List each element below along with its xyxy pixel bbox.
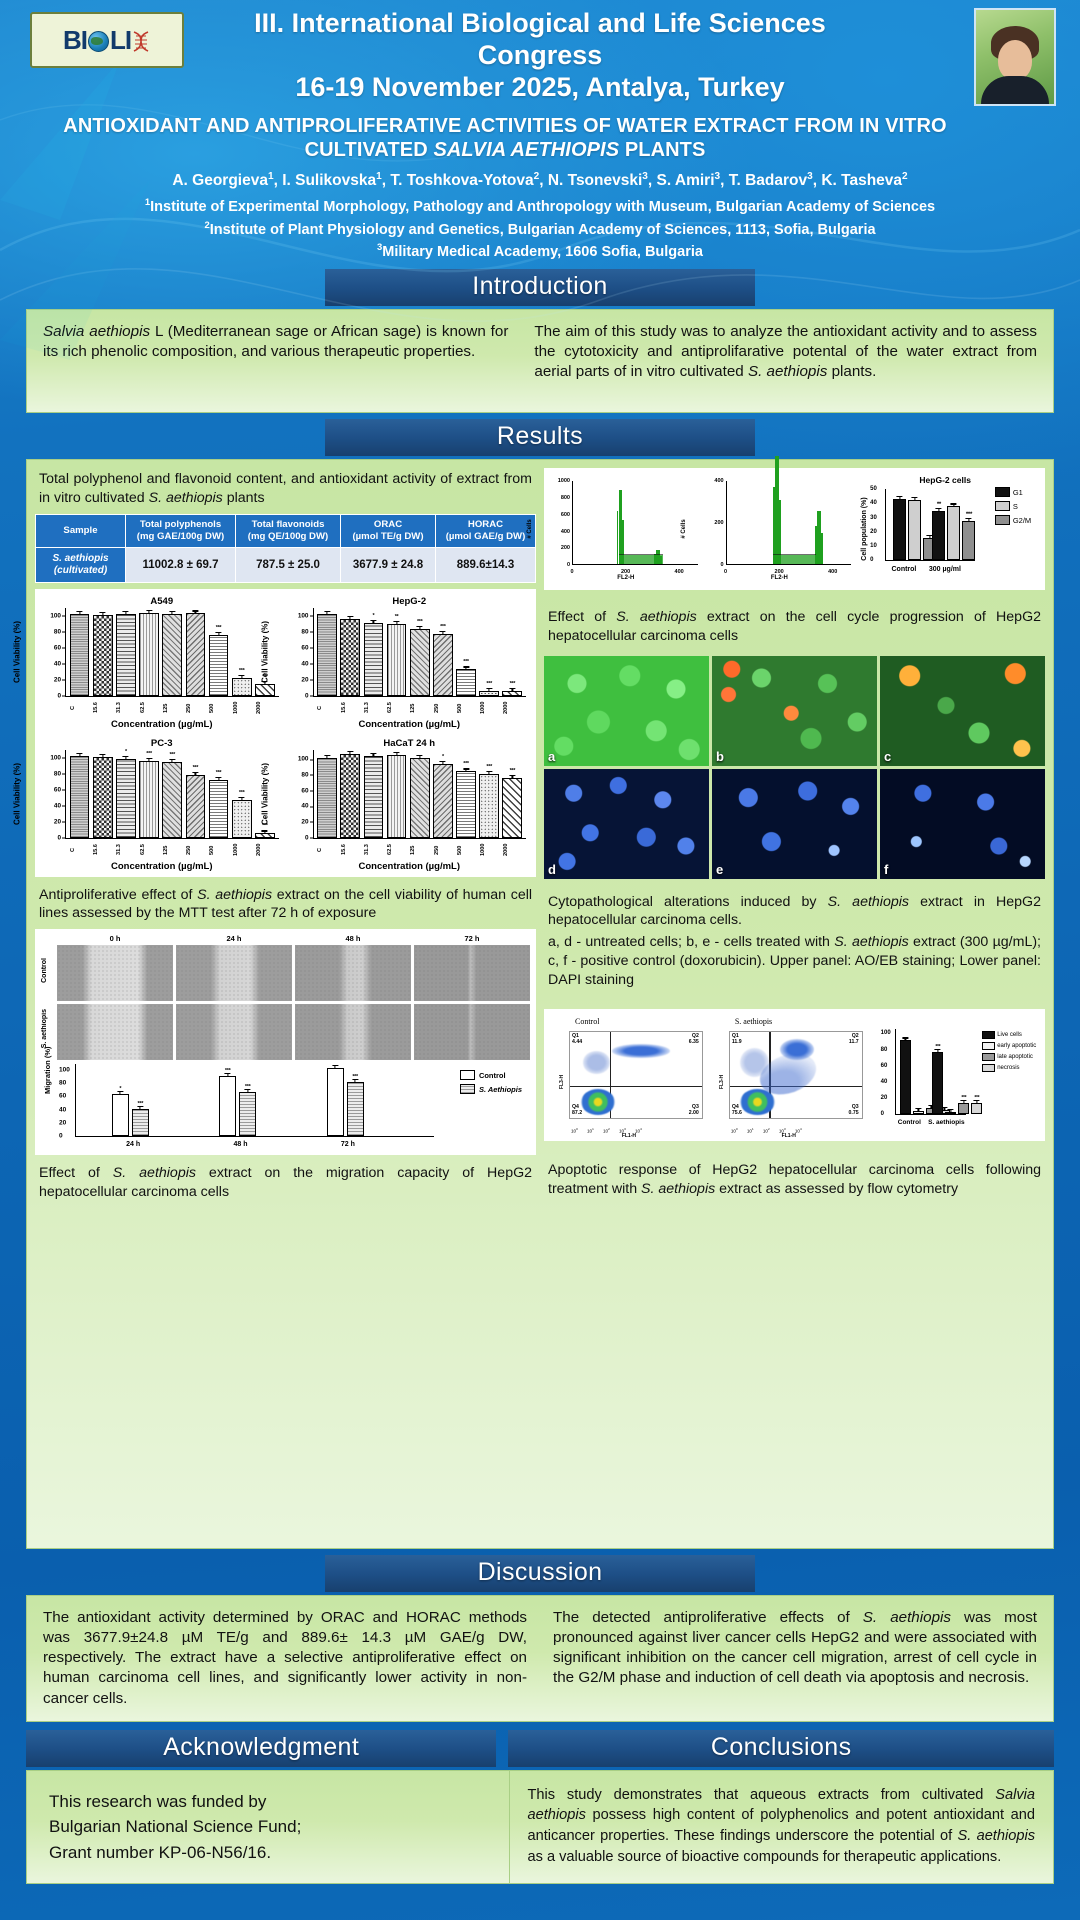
bar [70, 614, 90, 696]
cellcycle-caption: Effect of S. aethiopis extract on the ce… [544, 596, 1045, 649]
bar [93, 757, 113, 838]
bar [139, 613, 159, 696]
x-tick: 1000 [233, 698, 251, 718]
scratch-time-label: 72 h [414, 934, 530, 943]
quadrant-label-q1: Q111.9 [732, 1034, 742, 1046]
td-total-flavonoids: 787.5 ± 25.0 [236, 547, 341, 582]
y-tick: 0 [305, 834, 309, 841]
x-tick-labels: C15.631.362.512525050010002000 [65, 698, 279, 718]
legend-swatch [995, 515, 1010, 525]
introduction-left-text: Salvia aethiopis L (Mediterranean sage o… [43, 322, 508, 400]
y-tick: 20 [301, 818, 308, 825]
error-bar [218, 777, 219, 781]
hist-y-tick: 200 [714, 520, 723, 526]
apop-caption-species: S. aethiopis [641, 1181, 715, 1197]
x-tick: 48 h [234, 1141, 248, 1148]
scratch-image [295, 1004, 411, 1060]
quadrant-label-q1: Q14.44 [572, 1034, 582, 1046]
significance-marker: *** [966, 512, 972, 518]
poster-header: BILI III. International Biological and L… [0, 0, 1080, 263]
x-axis-label: Concentration (µg/mL) [39, 719, 285, 733]
photo-face [998, 40, 1032, 80]
error-bar [968, 518, 969, 522]
affiliation-3: 3Military Medical Academy, 1606 Sofia, B… [18, 240, 1062, 263]
bar: *** [219, 1076, 236, 1136]
y-tick: 40 [54, 802, 61, 809]
ack-line-1: This research was funded by [49, 1789, 487, 1815]
hist-y-tick: 0 [721, 562, 724, 568]
bar [93, 615, 113, 696]
intro-right-b: plants. [827, 363, 876, 380]
title-line-2: CULTIVATED SALVIA AETHIOPIS PLANTS [34, 138, 976, 162]
significance-marker: *** [146, 751, 152, 757]
hist-x-label: FL2-H [617, 575, 634, 581]
y-axis: Cell Viability (%)020406080100 [287, 608, 311, 696]
x-tick: Control [898, 1119, 921, 1126]
bar [116, 614, 136, 696]
bar: * [112, 1094, 129, 1137]
bar-group: *** [327, 1064, 364, 1136]
cyto-caption-species-2: S. aethiopis [834, 934, 909, 950]
th-sample: Sample [36, 514, 126, 547]
section-banner-results: Results [325, 419, 755, 456]
error-bar [148, 758, 149, 762]
y-tick: 30 [870, 515, 877, 521]
section-banner-introduction: Introduction [325, 269, 755, 306]
y-tick: 100 [50, 612, 61, 619]
mtt-chart: HaCaT 24 hCell Viability (%)020406080100… [287, 735, 533, 875]
introduction-banner-wrap: Introduction [0, 269, 1080, 306]
flow-histogram: # Cells02004000200400FL2-H [704, 475, 856, 583]
bar: *** [502, 691, 522, 696]
x-tick: 101 [747, 1127, 754, 1134]
hist-x-tick: 0 [570, 569, 573, 575]
bar: * [433, 764, 453, 838]
legend-label: Live cells [997, 1032, 1022, 1038]
hist-x-tick: 400 [828, 569, 837, 575]
error-bar [396, 621, 397, 625]
scratch-image [414, 945, 530, 1001]
y-tick: 100 [298, 612, 309, 619]
error-bar [419, 626, 420, 630]
y-axis-label: Cell Viability (%) [260, 621, 269, 683]
td-total-polyphenols: 11002.8 ± 69.7 [126, 547, 236, 582]
micrograph-label: e [716, 862, 723, 877]
cell-cycle-bar-chart: HepG-2 cellsCell population (%)010203040… [857, 475, 1033, 583]
dna-icon [131, 29, 151, 51]
bar-group [893, 489, 936, 560]
micrograph-f: f [880, 769, 1045, 879]
error-bar [335, 1065, 336, 1069]
legend: Live cellsearly apoptoticlate apoptoticn… [982, 1031, 1037, 1075]
bar: *** [479, 774, 499, 838]
concl-species-2: S. aethiopis [957, 1828, 1035, 1844]
y-tick: 60 [881, 1063, 888, 1069]
error-bar [489, 771, 490, 775]
hist-peak-edge [773, 487, 775, 565]
x-tick: 31.3 [116, 698, 134, 718]
error-bar [102, 612, 103, 616]
y-tick: 10 [870, 543, 877, 549]
micrograph-label: c [884, 749, 891, 764]
legend-item: Control [460, 1070, 522, 1080]
bar-group: ********* [932, 1029, 982, 1114]
y-axis-label: FL3-H [559, 1075, 565, 1089]
acknowledgment-text: This research was funded by Bulgarian Na… [49, 1789, 487, 1866]
scratch-row-label-treated: S. aethiopis [41, 1009, 54, 1048]
cyto-caption-c: a, d - untreated cells; b, e - cells tre… [548, 934, 834, 950]
x-tick: 500 [209, 840, 227, 860]
bar [70, 756, 90, 838]
y-tick: 0 [870, 557, 873, 563]
dot-cluster-upper [612, 1044, 670, 1058]
x-tick: Control [891, 566, 916, 573]
y-tick: 50 [870, 486, 877, 492]
hist-y-tick: 200 [561, 545, 570, 551]
migration-caption-species: S. aethiopis [113, 1165, 196, 1181]
th-horac: HORAC(µmol GAE/g DW) [436, 514, 536, 547]
significance-marker: *** [935, 1044, 940, 1050]
error-bar [465, 768, 466, 772]
y-axis-label: Cell Viability (%) [13, 763, 22, 825]
scratch-time-label: 48 h [295, 934, 411, 943]
y-tick: 40 [881, 1079, 888, 1085]
cell-cycle-card: # Cells020040060080010000200400FL2-H# Ce… [544, 468, 1045, 590]
quadrant-divider-horizontal [570, 1086, 702, 1087]
hist-y-tick: 0 [567, 562, 570, 568]
ack-line-3: Grant number KP-06-N56/16. [49, 1840, 487, 1866]
error-bar [125, 611, 126, 615]
error-bar [373, 753, 374, 757]
bar: *** [971, 1103, 982, 1114]
legend: G1SG2/M [995, 487, 1031, 529]
scratch-image [57, 1004, 173, 1060]
x-tick: 62.5 [387, 840, 405, 860]
legend-item: necrosis [982, 1064, 1037, 1072]
bar [947, 506, 960, 560]
table-caption: Total polyphenol and flavonoid content, … [35, 468, 536, 507]
y-tick: 80 [54, 770, 61, 777]
error-bar [419, 755, 420, 759]
mtt-caption-species: S. aethiopis [197, 887, 272, 903]
conclusions-panel: This study demonstrates that aqueous ext… [509, 1770, 1055, 1885]
plot-area: ********** [313, 750, 527, 839]
bar: ** [932, 511, 945, 561]
apoptosis-card: ControlFL3-HQ14.44Q26.35Q487.2Q32.001001… [544, 1009, 1045, 1141]
scratch-image [57, 945, 173, 1001]
flow-dotplot: S. aethiopisFL3-HQ111.9Q211.7Q475.6Q30.7… [711, 1017, 867, 1135]
affiliations: 1Institute of Experimental Morphology, P… [0, 195, 1080, 264]
td-horac: 889.6±14.3 [436, 547, 536, 582]
affiliation-1: 1Institute of Experimental Morphology, P… [18, 195, 1062, 218]
error-bar [218, 632, 219, 636]
y-tick: 20 [301, 676, 308, 683]
bar [893, 499, 906, 561]
significance-marker: *** [486, 681, 492, 687]
bar: *** [162, 762, 182, 838]
ack-line-2: Bulgarian National Science Fund; [49, 1814, 487, 1840]
significance-marker: *** [417, 619, 423, 625]
chart-title: HepG-2 cells [857, 475, 1033, 485]
x-tick: 250 [186, 698, 204, 718]
bar [908, 500, 921, 560]
cc-caption-species: S. aethiopis [616, 609, 696, 625]
significance-marker: *** [245, 1084, 251, 1090]
bar: *** [433, 634, 453, 696]
scratch-image [414, 1004, 530, 1060]
mtt-chart-card: A549Cell Viability (%)020406080100******… [35, 589, 536, 877]
cyto-caption-species-1: S. aethiopis [828, 894, 909, 910]
scratch-assay-block: Control S. aethiopis 0 h24 h48 h72 h [41, 934, 530, 1060]
error-bar [396, 752, 397, 756]
x-tick: 72 h [341, 1141, 355, 1148]
y-tick: 0 [57, 834, 61, 841]
y-tick: 0 [59, 1133, 63, 1140]
scratch-time-labels: 0 h24 h48 h72 h [57, 934, 530, 943]
dot-cluster-main [581, 1089, 615, 1115]
td-sample: S. aethiopis(cultivated) [36, 547, 126, 582]
micrograph-label: b [716, 749, 724, 764]
x-tick: 62.5 [387, 698, 405, 718]
y-tick: 0 [881, 1111, 884, 1117]
y-tick: 80 [54, 628, 61, 635]
bar: *** [232, 678, 252, 696]
x-tick: C [317, 698, 335, 718]
legend-swatch [460, 1084, 475, 1094]
discussion-right-text: The detected antiproliferative effects o… [553, 1608, 1037, 1708]
bar: *** [479, 691, 499, 696]
significance-marker: *** [169, 752, 175, 758]
scratch-image [176, 1004, 292, 1060]
x-tick: 24 h [126, 1141, 140, 1148]
mtt-chart: HepG-2Cell Viability (%)020406080100****… [287, 593, 533, 733]
scratch-time-label: 24 h [176, 934, 292, 943]
hist-plot [572, 481, 698, 565]
migration-caption: Effect of S. aethiopis extract on the mi… [35, 1161, 536, 1201]
results-banner-wrap: Results [0, 419, 1080, 456]
plot-area: 020406080100Control*********S. aethiopis [895, 1029, 967, 1115]
x-tick: 15.6 [93, 698, 111, 718]
bar [162, 614, 182, 696]
hist-y-label: # Cells [527, 520, 533, 539]
hist-plot [726, 481, 852, 565]
bar [317, 758, 337, 838]
y-tick: 60 [301, 644, 308, 651]
bar-group: ****** [219, 1064, 256, 1136]
x-tick: 250 [434, 840, 452, 860]
bar: * [116, 759, 136, 838]
significance-marker: *** [193, 765, 199, 771]
micrograph-label: a [548, 749, 555, 764]
hist-y-tick: 1000 [558, 478, 570, 484]
y-tick: 20 [59, 1119, 66, 1126]
y-tick: 20 [881, 1095, 888, 1101]
mtt-chart: PC-3Cell Viability (%)020406080100******… [39, 735, 285, 875]
x-tick: 500 [209, 698, 227, 718]
legend-item: late apoptotic [982, 1053, 1037, 1061]
plot-area: ****************** [313, 608, 527, 697]
legend-item: S [995, 501, 1031, 511]
y-axis-label: FL3-H [719, 1075, 725, 1089]
plot-area: 01020304050Control*****300 µg/ml [885, 489, 975, 561]
globe-icon [88, 31, 109, 52]
hist-peak-edge [617, 511, 619, 564]
hist-x-tick: 400 [675, 569, 684, 575]
y-tick: 80 [301, 628, 308, 635]
bar [900, 1040, 911, 1114]
table-caption-a: Total polyphenol and flavonoid content, … [39, 471, 532, 506]
results-panel: Total polyphenol and flavonoid content, … [26, 459, 1054, 1549]
x-tick-labels: C15.631.362.512525050010002000 [65, 840, 279, 860]
introduction-right-text: The aim of this study was to analyze the… [534, 322, 1037, 400]
table-caption-species: S. aethiopis [149, 490, 223, 506]
th-total-polyphenols: Total polyphenols(mg GAE/100g DW) [126, 514, 236, 547]
significance-marker: *** [440, 624, 446, 630]
y-tick: 0 [57, 692, 61, 699]
introduction-panel: Salvia aethiopis L (Mediterranean sage o… [26, 309, 1054, 413]
x-axis-label: FL1-H [622, 1133, 636, 1139]
scratch-image [176, 945, 292, 1001]
significance-marker: * [442, 754, 444, 760]
error-bar [350, 616, 351, 620]
y-tick: 100 [881, 1030, 891, 1036]
legend-swatch [982, 1042, 995, 1050]
x-tick: 125 [410, 698, 428, 718]
legend-swatch [982, 1031, 995, 1039]
chart-title: HaCaT 24 h [287, 738, 533, 749]
cyto-caption: Cytopathological alterations induced by … [544, 885, 1045, 990]
x-axis-label: FL1-H [782, 1133, 796, 1139]
y-tick: 40 [301, 660, 308, 667]
bar: *** [239, 1092, 256, 1137]
significance-marker: *** [225, 1068, 231, 1074]
footer-banners: Acknowledgment Conclusions [26, 1730, 1054, 1767]
apop-caption-b: extract as assessed by flow cytometry [715, 1181, 958, 1197]
legend-item: early apoptotic [982, 1042, 1037, 1050]
legend-item: S. Aethiopis [460, 1084, 522, 1094]
significance-marker: *** [510, 681, 516, 687]
concl-a: This study demonstrates that aqueous ext… [528, 1787, 996, 1803]
significance-marker: *** [216, 770, 222, 776]
y-tick: 40 [54, 660, 61, 667]
legend-swatch [460, 1070, 475, 1080]
y-tick: 100 [59, 1066, 70, 1073]
hist-y-tick: 600 [561, 512, 570, 518]
intro-species: Salvia aethiopis [43, 323, 150, 340]
cell-cycle-charts: # Cells020040060080010000200400FL2-H# Ce… [546, 470, 1043, 588]
congress-line-2: 16-19 November 2025, Antalya, Turkey [200, 72, 880, 104]
legend-label: S. Aethiopis [479, 1085, 522, 1094]
bar [186, 613, 206, 695]
error-bar [326, 755, 327, 759]
y-tick: 80 [301, 771, 308, 778]
results-table: Sample Total polyphenols(mg GAE/100g DW)… [35, 514, 536, 583]
error-bar [241, 797, 242, 801]
significance-marker: *** [138, 1101, 144, 1107]
significance-marker: * [119, 1086, 121, 1092]
error-bar [918, 1108, 919, 1112]
x-tick: 101 [587, 1127, 594, 1134]
significance-marker: *** [510, 768, 516, 774]
plot-area: ******************* [65, 750, 279, 839]
poster-canvas: BILI III. International Biological and L… [0, 0, 1080, 1920]
congress-line-1: III. International Biological and Life S… [200, 8, 880, 72]
error-bar [102, 754, 103, 758]
x-tick: 102 [763, 1127, 770, 1134]
y-tick: 40 [870, 500, 877, 506]
hist-y-tick: 400 [714, 478, 723, 484]
x-tick: 15.6 [341, 840, 359, 860]
disc-right-a: The detected antiproliferative effects o… [553, 1609, 863, 1626]
x-tick: 300 µg/ml [929, 566, 961, 573]
y-tick: 40 [59, 1106, 66, 1113]
error-bar [953, 503, 954, 507]
significance-marker: * [125, 749, 127, 755]
legend-label: early apoptotic [997, 1043, 1036, 1049]
y-tick: 60 [54, 786, 61, 793]
y-tick: 80 [881, 1047, 888, 1053]
significance-marker: *** [486, 764, 492, 770]
micrograph-e: e [712, 769, 877, 879]
bar: *** [139, 761, 159, 838]
bar: *** [932, 1052, 943, 1115]
significance-marker: *** [216, 625, 222, 631]
micrograph-b: b [712, 656, 877, 766]
y-axis-label: Cell population (%) [861, 498, 868, 561]
bar: *** [255, 833, 275, 837]
bar: *** [958, 1103, 969, 1115]
bar [913, 1111, 924, 1114]
x-tick: 1000 [480, 698, 498, 718]
scratch-row-label-control: Control [41, 958, 54, 983]
acknowledgment-panel: This research was funded by Bulgarian Na… [26, 1770, 509, 1885]
x-tick: 2000 [503, 698, 521, 718]
bar [364, 756, 384, 838]
significance-marker: *** [239, 668, 245, 674]
migration-caption-a: Effect of [39, 1165, 113, 1181]
x-tick: 15.6 [93, 840, 111, 860]
micrograph-c: c [880, 656, 1045, 766]
significance-marker: *** [352, 1074, 358, 1080]
legend-swatch [982, 1053, 995, 1061]
x-axis-label: Concentration (µg/mL) [287, 861, 533, 875]
legend-label: S [1013, 502, 1018, 511]
x-tick: 15.6 [341, 698, 359, 718]
error-bar [442, 761, 443, 765]
scratch-row-2 [57, 1004, 530, 1060]
intro-right-species: S. aethiopis [748, 363, 827, 380]
apoptosis-charts: ControlFL3-HQ14.44Q26.35Q487.2Q32.001001… [546, 1011, 1043, 1139]
error-bar [465, 666, 466, 670]
logo-text: BILI [63, 25, 151, 56]
error-bar [899, 496, 900, 500]
significance-marker: ** [395, 614, 399, 620]
x-tick: 62.5 [140, 840, 158, 860]
micrograph-grid: a b c d e f [544, 656, 1045, 879]
y-tick: 100 [298, 756, 309, 763]
mtt-caption-a: Antiproliferative effect of [39, 887, 197, 903]
bar [340, 754, 360, 838]
hist-y-label: # Cells [681, 520, 687, 539]
error-bar [326, 611, 327, 615]
error-bar [914, 497, 915, 501]
x-tick: 250 [434, 698, 452, 718]
quadrant-label-q3: Q32.00 [689, 1105, 699, 1117]
y-tick: 40 [301, 803, 308, 810]
y-tick: 0 [305, 692, 309, 699]
migration-card: Control S. aethiopis 0 h24 h48 h72 h [35, 929, 536, 1155]
significance-marker: *** [239, 790, 245, 796]
